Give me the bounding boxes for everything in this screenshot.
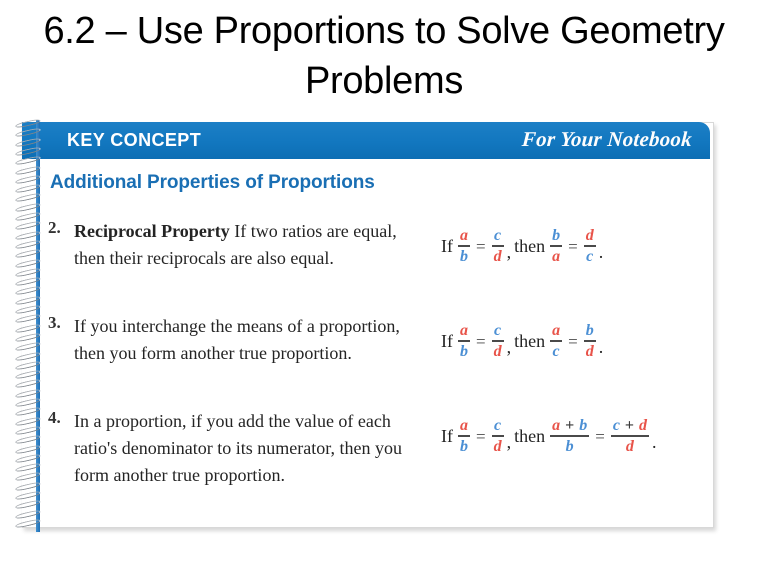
spiral-coil [14,390,44,399]
fraction-bar [584,340,596,342]
fraction-bar [458,435,470,437]
fraction-if-right: cd [492,227,504,265]
fraction-denominator: d [492,343,504,360]
fraction-then-left: ba [550,227,562,265]
card-header-bar: KEY CONCEPT For Your Notebook [22,122,710,159]
equals-sign: = [476,237,486,257]
spiral-coil [14,232,44,241]
fraction-denominator: b [458,248,470,265]
property-number: 2. [48,218,70,238]
fraction-numerator: a [458,227,470,244]
key-concept-label: KEY CONCEPT [67,130,201,151]
spiral-coil [14,287,44,296]
fraction-if-left: ab [458,227,470,265]
equals-sign: = [476,332,486,352]
spiral-coil [14,241,44,250]
comma: , [507,337,512,358]
spiral-coil [14,167,44,176]
fraction-numerator: b [584,322,596,339]
fraction-bar [611,435,649,437]
fraction-bar [584,245,596,247]
spiral-coil [14,353,44,362]
fraction-denominator: d [492,248,504,265]
spiral-coil [14,325,44,334]
if-word: If [441,236,453,257]
property-formula: Ifab=cd,thenba=dc. [438,228,603,266]
fraction-bar [492,245,504,247]
fraction-numerator: b [550,227,562,244]
fraction-bar [458,340,470,342]
spiral-coil [14,129,44,138]
spiral-coil [14,511,44,520]
period: . [599,337,604,358]
spiral-coil [14,334,44,343]
property-body: In a proportion, if you add the value of… [74,411,402,485]
comma: , [507,242,512,263]
fraction-then-left: a + bb [550,417,589,455]
spiral-coil [14,473,44,482]
fraction-denominator: b [458,438,470,455]
fraction-bar [458,245,470,247]
spiral-coil [14,427,44,436]
if-word: If [441,331,453,352]
spiral-binding-icon [14,120,50,532]
fraction-if-right: cd [492,417,504,455]
spiral-coil [14,315,44,324]
property-body: If you interchange the means of a propor… [74,316,400,363]
fraction-denominator: b [550,438,589,455]
spiral-coil [14,139,44,148]
spiral-coil [14,501,44,510]
spiral-coil [14,157,44,166]
fraction-bar [550,435,589,437]
fraction-numerator: d [584,227,596,244]
spiral-coil [14,222,44,231]
fraction-numerator: a + b [550,417,589,434]
fraction-denominator: d [492,438,504,455]
fraction-denominator: c [584,248,596,265]
period: . [599,242,604,263]
spiral-coil [14,418,44,427]
spiral-coil [14,362,44,371]
fraction-if-right: cd [492,322,504,360]
fraction-numerator: a [550,322,562,339]
property-formula: Ifab=cd,thena + bb=c + dd. [438,418,657,456]
fraction-bar [492,435,504,437]
spiral-coil [14,176,44,185]
equals-sign: = [568,332,578,352]
spiral-coil [14,408,44,417]
fraction-numerator: a [458,417,470,434]
fraction-numerator: c [492,227,504,244]
fraction-denominator: d [584,343,596,360]
equals-sign: = [476,427,486,447]
spiral-coil [14,297,44,306]
spiral-coil [14,455,44,464]
for-your-notebook-label: For Your Notebook [521,127,693,152]
spiral-coil [14,520,44,529]
if-word: If [441,426,453,447]
fraction-denominator: a [550,248,562,265]
fraction-numerator: c [492,417,504,434]
spiral-coil [14,269,44,278]
property-description: If you interchange the means of a propor… [74,313,414,367]
equals-sign: = [595,427,605,447]
spiral-coil [14,250,44,259]
fraction-denominator: d [611,438,649,455]
spiral-coil [14,260,44,269]
property-description: Reciprocal Property If two ratios are eq… [74,218,414,272]
fraction-bar [550,340,562,342]
fraction-denominator: b [458,343,470,360]
fraction-then-left: ac [550,322,562,360]
spiral-coil [14,483,44,492]
spiral-coil [14,194,44,203]
property-formula: Ifab=cd,thenac=bd. [438,323,603,361]
fraction-numerator: c + d [611,417,649,434]
fraction-then-right: bd [584,322,596,360]
spiral-coil [14,446,44,455]
fraction-then-right: c + dd [611,417,649,455]
page-title: 6.2 – Use Proportions to Solve Geometry … [0,6,768,106]
then-word: then [514,236,545,257]
property-lead: Reciprocal Property [74,221,230,241]
fraction-if-left: ab [458,322,470,360]
property-number: 3. [48,313,70,333]
period: . [652,432,657,453]
equals-sign: = [568,237,578,257]
spiral-coil [14,148,44,157]
fraction-if-left: ab [458,417,470,455]
section-heading: Additional Properties of Proportions [50,172,375,194]
fraction-denominator: c [550,343,562,360]
spiral-coil [14,436,44,445]
spiral-coil [14,343,44,352]
fraction-bar [550,245,562,247]
spiral-coil [14,380,44,389]
property-description: In a proportion, if you add the value of… [74,408,414,489]
fraction-numerator: a [458,322,470,339]
then-word: then [514,426,545,447]
fraction-numerator: c [492,322,504,339]
fraction-then-right: dc [584,227,596,265]
spiral-coil [14,204,44,213]
then-word: then [514,331,545,352]
fraction-bar [492,340,504,342]
property-number: 4. [48,408,70,428]
comma: , [507,432,512,453]
